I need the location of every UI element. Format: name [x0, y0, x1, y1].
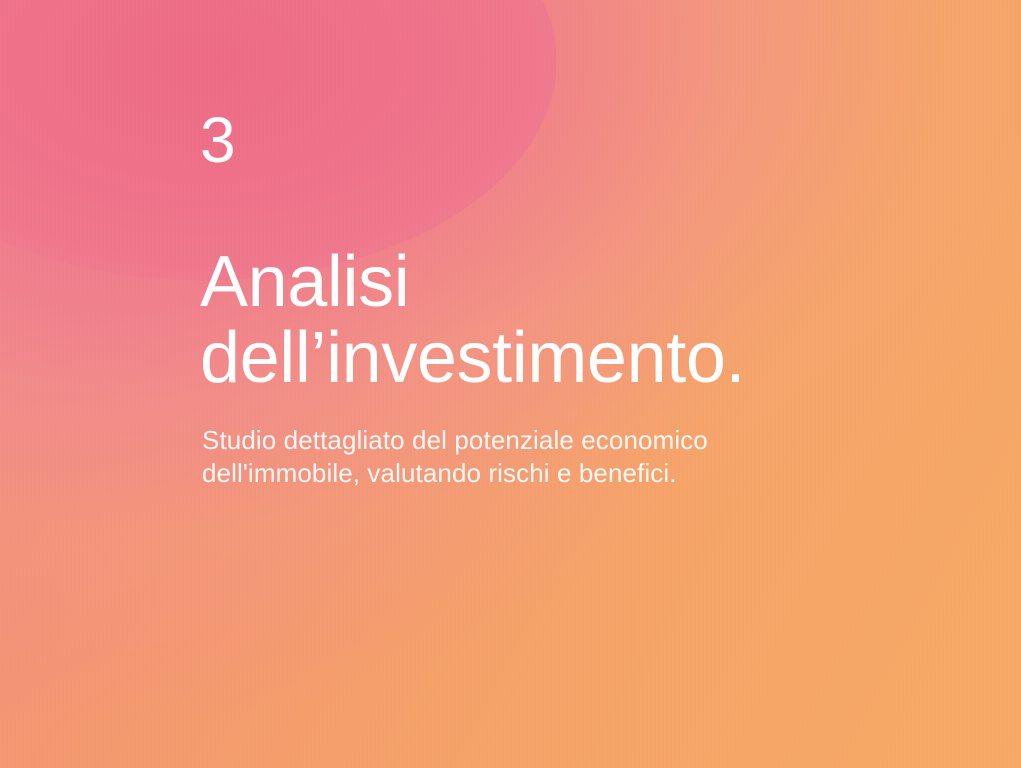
slide-content: 3 Analisi dell’investimento. Studio dett… — [200, 0, 960, 768]
slide-subtitle: Studio dettagliato del potenziale econom… — [202, 424, 708, 490]
section-number: 3 — [200, 108, 236, 172]
slide-title: Analisi dell’investimento. — [200, 244, 745, 396]
presentation-slide: 3 Analisi dell’investimento. Studio dett… — [0, 0, 1021, 768]
